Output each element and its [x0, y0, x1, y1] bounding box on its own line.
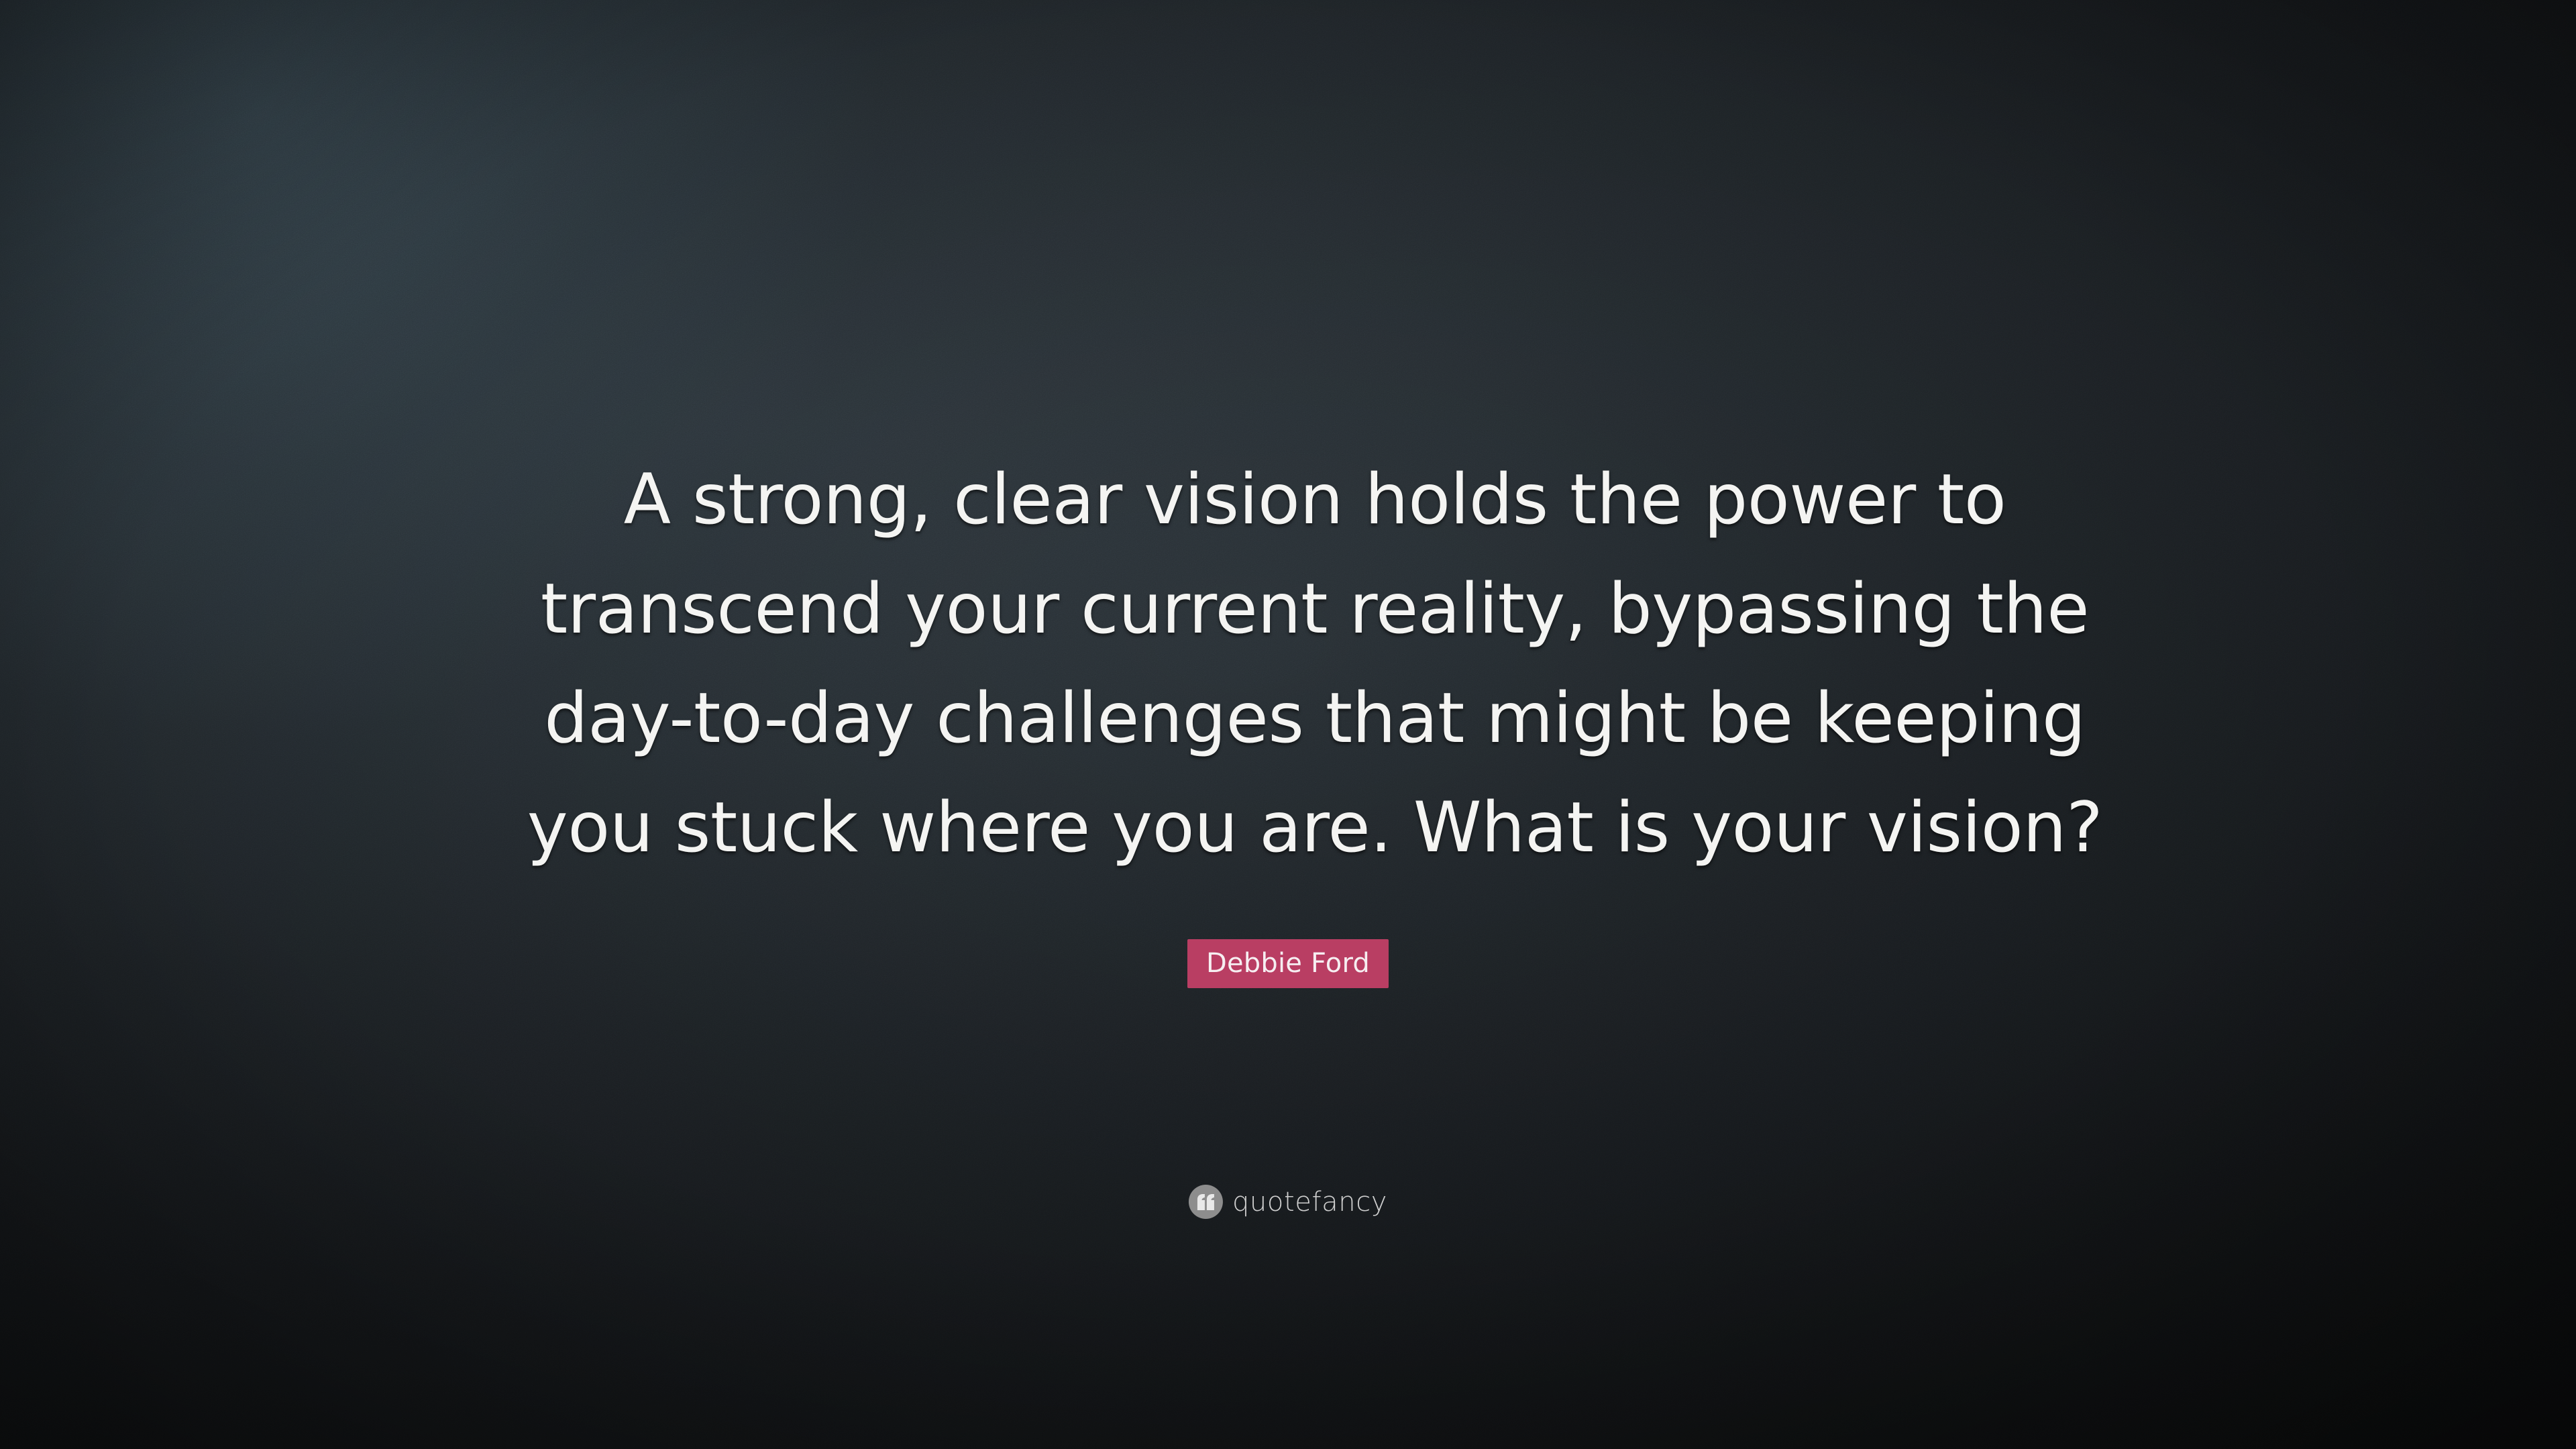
brand-logo[interactable]: quotefancy — [1189, 1185, 1387, 1219]
quote-block: A strong, clear vision holds the power t… — [476, 445, 2153, 883]
author-badge[interactable]: Debbie Ford — [1187, 939, 1389, 988]
brand-name: quotefancy — [1232, 1189, 1387, 1216]
quote-marks-icon — [1189, 1185, 1223, 1219]
content-layer: A strong, clear vision holds the power t… — [0, 0, 2576, 1449]
quote-text: A strong, clear vision holds the power t… — [476, 445, 2153, 883]
quote-wallpaper: A strong, clear vision holds the power t… — [0, 0, 2576, 1449]
